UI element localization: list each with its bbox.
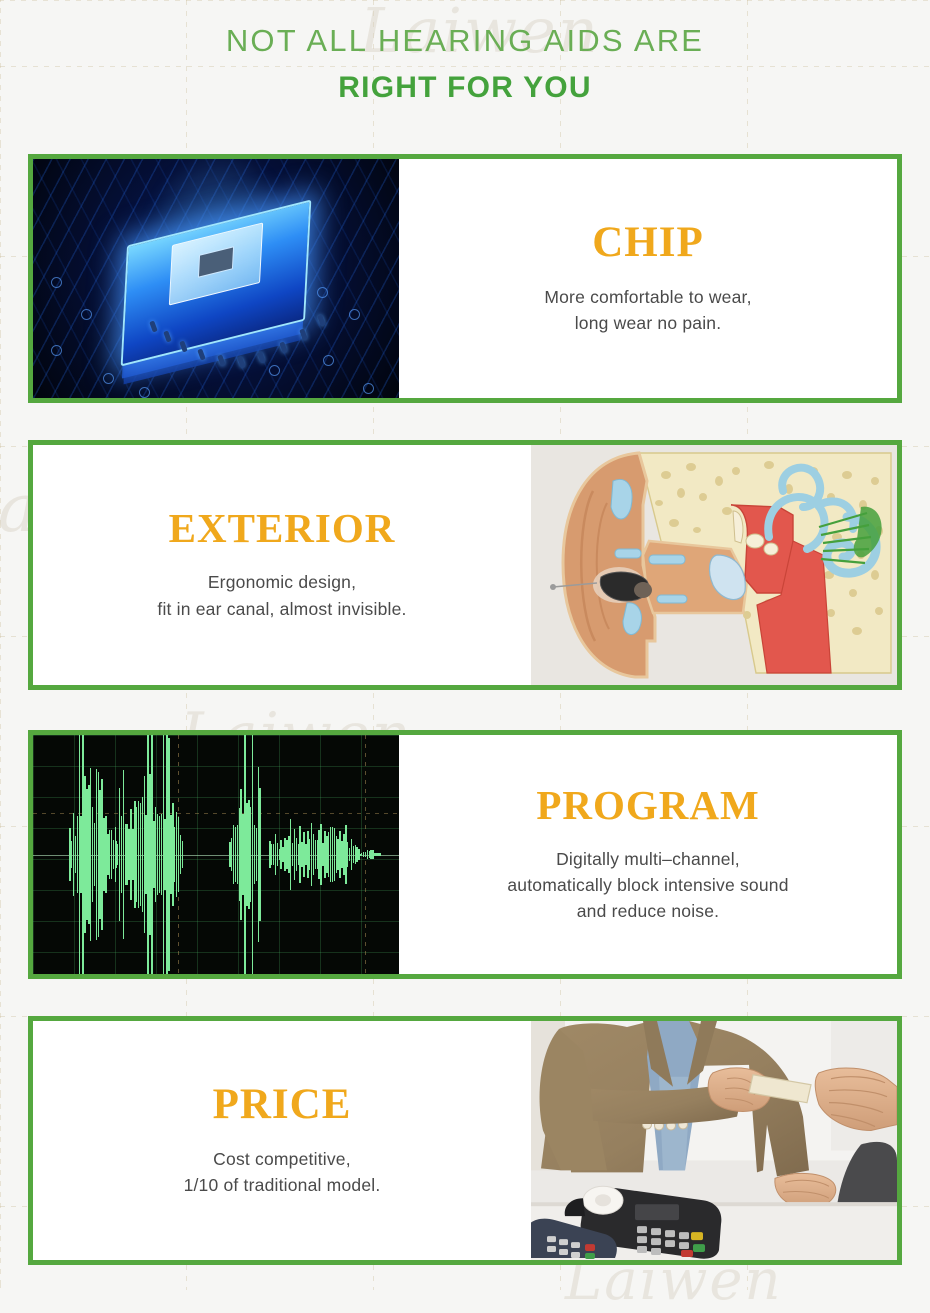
feature-desc-line: More comfortable to wear, bbox=[544, 284, 751, 310]
feature-desc-chip: More comfortable to wear, long wear no p… bbox=[526, 284, 769, 337]
page-header: NOT ALL HEARING AIDS ARE RIGHT FOR YOU bbox=[0, 22, 930, 106]
feature-title-exterior: EXTERIOR bbox=[169, 508, 396, 549]
page-title-line1: NOT ALL HEARING AIDS ARE bbox=[0, 22, 930, 61]
feature-desc-line: long wear no pain. bbox=[544, 310, 751, 336]
waveform-image bbox=[33, 735, 399, 974]
program-text-pane: PROGRAM Digitally multi–channel, automat… bbox=[399, 735, 897, 974]
feature-desc-line: automatically block intensive sound bbox=[507, 872, 788, 898]
ear-anatomy-image bbox=[531, 445, 897, 685]
feature-card-chip[interactable]: CHIP More comfortable to wear, long wear… bbox=[28, 154, 902, 403]
feature-desc-line: Digitally multi–channel, bbox=[507, 846, 788, 872]
feature-card-program[interactable]: PROGRAM Digitally multi–channel, automat… bbox=[28, 730, 902, 979]
ear-anatomy-diagram bbox=[531, 445, 897, 685]
feature-card-price[interactable]: PRICE Cost competitive, 1/10 of traditio… bbox=[28, 1016, 902, 1265]
feature-desc-line: 1/10 of traditional model. bbox=[184, 1172, 381, 1198]
payment-scene-image bbox=[531, 1021, 897, 1260]
price-text-pane: PRICE Cost competitive, 1/10 of traditio… bbox=[33, 1021, 531, 1260]
feature-desc-price: Cost competitive, 1/10 of traditional mo… bbox=[166, 1146, 399, 1199]
feature-desc-line: and reduce noise. bbox=[507, 898, 788, 924]
payment-photo-illustration bbox=[531, 1021, 897, 1260]
feature-desc-program: Digitally multi–channel, automatically b… bbox=[489, 846, 806, 925]
chip-image bbox=[33, 159, 399, 398]
feature-title-chip: CHIP bbox=[592, 221, 704, 264]
feature-card-exterior[interactable]: EXTERIOR Ergonomic design, fit in ear ca… bbox=[28, 440, 902, 690]
chip-text-pane: CHIP More comfortable to wear, long wear… bbox=[399, 159, 897, 398]
feature-desc-line: fit in ear canal, almost invisible. bbox=[157, 596, 406, 622]
page-title-line2: RIGHT FOR YOU bbox=[0, 69, 930, 107]
exterior-text-pane: EXTERIOR Ergonomic design, fit in ear ca… bbox=[33, 445, 531, 685]
feature-title-program: PROGRAM bbox=[536, 785, 759, 826]
feature-title-price: PRICE bbox=[213, 1083, 352, 1126]
feature-desc-exterior: Ergonomic design, fit in ear canal, almo… bbox=[139, 569, 424, 622]
feature-desc-line: Cost competitive, bbox=[184, 1146, 381, 1172]
feature-desc-line: Ergonomic design, bbox=[157, 569, 406, 595]
